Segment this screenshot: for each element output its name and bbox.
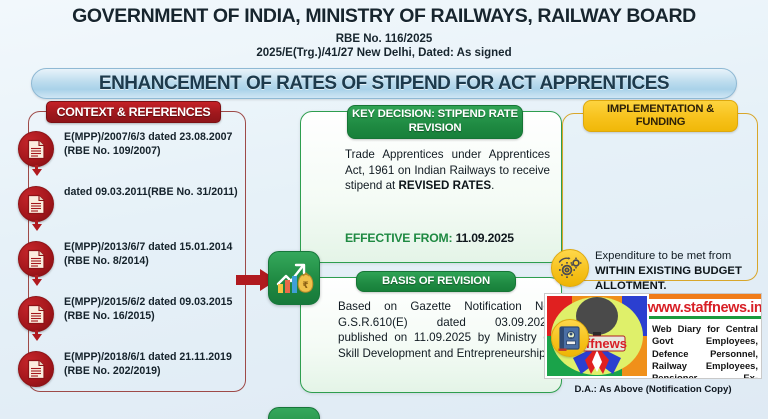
list-item: E(MPP)/2015/6/2 dated 09.03.2015 (RBE No… [18,294,258,349]
effective-from-value: 11.09.2025 [456,231,514,245]
document-icon [18,186,54,222]
svg-text:₹: ₹ [302,281,308,291]
headline-banner-label: ENHANCEMENT OF RATES OF STIPEND FOR ACT … [99,73,669,95]
certificate-scroll-icon [268,407,320,419]
implementation-funding-heading: IMPLEMENTATION & FUNDING [583,100,738,132]
rbe-number: RBE No. 116/2025 [0,32,768,46]
document-icon [18,241,54,277]
list-item-label: E(MPP)/2013/6/7 dated 15.01.2014 (RBE No… [64,241,254,269]
document-icon [18,296,54,332]
gear-icon [551,249,589,287]
staffnews-info: www.staffnews.in Web Diary for Central G… [649,294,761,378]
key-decision-body-bold: REVISED RATES [399,179,492,192]
implementation-item-budget-bold: WITHIN EXISTING BUDGET ALLOTMENT. [595,265,742,292]
list-item: E(MPP)/2013/6/7 dated 15.01.2014 (RBE No… [18,239,258,294]
list-item: dated 09.03.2011(RBE No. 31/2011) [18,184,258,239]
basis-of-revision-heading: BASIS OF REVISION [356,271,516,292]
arrow-down-icon [32,224,42,231]
basis-of-revision-body: Based on Gazette Notification No. G.S.R.… [338,299,553,362]
basis-of-revision-heading-label: BASIS OF REVISION [382,275,490,289]
file-reference-line: 2025/E(Trg.)/41/27 New Delhi, Dated: As … [0,46,768,61]
key-decision-body-post: . [491,179,494,192]
page-header: GOVERNMENT OF INDIA, MINISTRY OF RAILWAY… [0,0,768,99]
list-item: E(MPP)/2018/6/1 dated 21.11.2019 (RBE No… [18,349,258,404]
key-decision-heading-label: KEY DECISION: STIPEND RATE REVISION [348,108,522,136]
list-item-label: E(MPP)/2015/6/2 dated 09.03.2015 (RBE No… [64,296,254,324]
banner-wrapper: ENHANCEMENT OF RATES OF STIPEND FOR ACT … [0,68,768,99]
infographic-body: CONTEXT & REFERENCES E(MPP)/2007/6/3 dat… [0,99,768,404]
ledger-book-icon [551,319,589,357]
context-references-heading-label: CONTEXT & REFERENCES [57,105,211,119]
references-timeline: E(MPP)/2007/6/3 dated 23.08.2007 (RBE No… [18,129,258,404]
list-item-label: E(MPP)/2018/6/1 dated 21.11.2019 (RBE No… [64,351,254,379]
arrow-down-icon [32,279,42,286]
implementation-funding-heading-label: IMPLEMENTATION & FUNDING [584,103,737,130]
arrow-down-icon [32,169,42,176]
staffnews-description: Web Diary for Central Govt Employees, De… [652,323,758,379]
key-decision-body: Trade Apprentices under Apprentices Act,… [345,147,550,194]
key-decision-heading: KEY DECISION: STIPEND RATE REVISION [347,105,523,139]
arrow-down-icon [32,334,42,341]
list-item-label: E(MPP)/2007/6/3 dated 23.08.2007 (RBE No… [64,131,254,159]
implementation-item-budget-pre: Expenditure to be met from [595,250,731,262]
page-title: GOVERNMENT OF INDIA, MINISTRY OF RAILWAY… [0,6,768,28]
growth-money-icon: ₹ [268,251,320,305]
list-item-label: dated 09.03.2011(RBE No. 31/2011) [64,186,254,200]
effective-from-row: EFFECTIVE FROM: 11.09.2025 [345,231,560,245]
implementation-item-budget: Expenditure to be met from WITHIN EXISTI… [595,249,753,294]
headline-banner: ENHANCEMENT OF RATES OF STIPEND FOR ACT … [31,68,737,99]
effective-from-label: EFFECTIVE FROM: [345,231,452,245]
staffnews-url-label: www.staffnews.in [648,300,762,316]
document-icon [18,351,54,387]
da-note: D.A.: As Above (Notification Copy) [544,384,762,395]
document-icon [18,131,54,167]
staffnews-url[interactable]: www.staffnews.in [649,299,761,319]
context-references-heading: CONTEXT & REFERENCES [46,101,221,123]
list-item: E(MPP)/2007/6/3 dated 23.08.2007 (RBE No… [18,129,258,184]
